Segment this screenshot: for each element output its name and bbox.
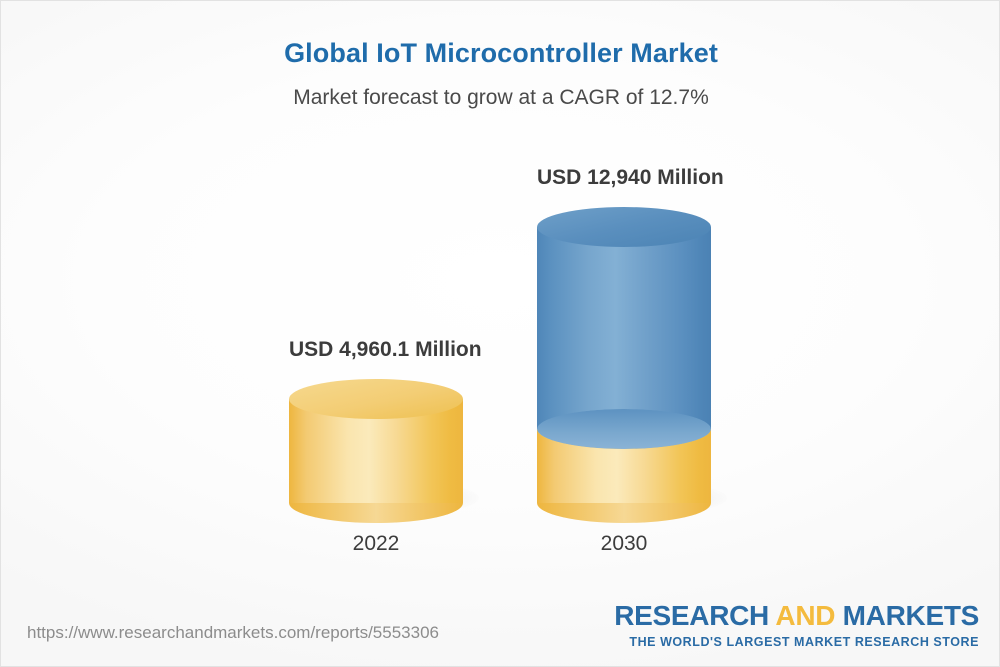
bar-value-label-2030: USD 12,940 Million — [537, 166, 711, 190]
source-url[interactable]: https://www.researchandmarkets.com/repor… — [27, 623, 439, 643]
bar-category-label-2022: 2022 — [289, 532, 463, 556]
cylinder-segment-growth-2030 — [537, 227, 711, 429]
bar-value-label-2022: USD 4,960.1 Million — [289, 338, 463, 362]
bar-column-2022: USD 4,960.1 Million 2022 — [289, 161, 463, 561]
cylinder-segment-growth-bottom-2030 — [537, 409, 711, 449]
chart-card: Global IoT Microcontroller Market Market… — [0, 0, 1000, 667]
logo-word-and: AND — [775, 600, 842, 631]
plot-area: USD 4,960.1 Million 2022 USD 12,940 Mill… — [1, 1, 1000, 667]
logo-tagline: THE WORLD'S LARGEST MARKET RESEARCH STOR… — [614, 636, 979, 649]
research-and-markets-logo[interactable]: RESEARCH AND MARKETS THE WORLD'S LARGEST… — [614, 602, 979, 649]
cylinder-2030 — [537, 207, 711, 511]
logo-word-markets: MARKETS — [843, 600, 979, 631]
cylinder-2022 — [289, 379, 463, 511]
cylinder-top-cap-2030 — [537, 207, 711, 247]
bar-column-2030: USD 12,940 Million 2030 — [537, 161, 711, 561]
logo-wordmark: RESEARCH AND MARKETS — [614, 602, 979, 630]
logo-word-research: RESEARCH — [614, 600, 775, 631]
cylinder-top-cap-2022 — [289, 379, 463, 419]
bar-category-label-2030: 2030 — [537, 532, 711, 556]
